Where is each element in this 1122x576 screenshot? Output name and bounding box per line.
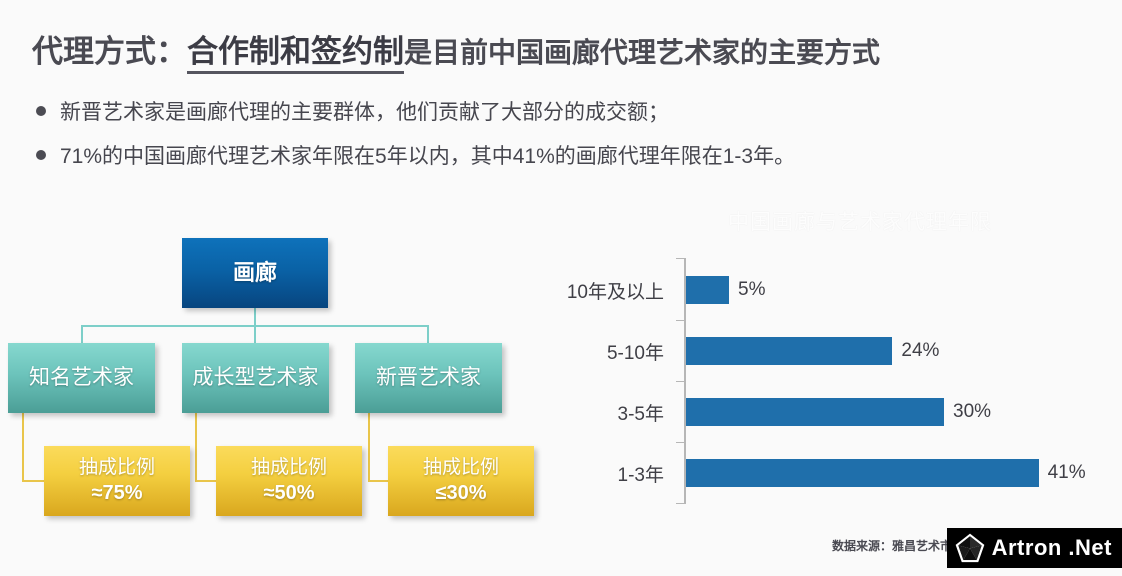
- connector-leaf-1-vertical: [22, 413, 24, 481]
- connector-branch-right: [427, 325, 429, 343]
- diagram-node-label: 新晋艺术家: [376, 366, 481, 391]
- chart-plot-area: 10年及以上 5% 5-10年 24% 3-5年 30% 1-3年 41%: [548, 228, 1122, 520]
- artron-diamond-icon: [955, 533, 985, 563]
- chart-bar[interactable]: [686, 337, 892, 365]
- bullet-dot-icon: [36, 106, 46, 116]
- page-title: 代理方式：合作制和签约制是目前中国画廊代理艺术家的主要方式: [32, 26, 1092, 71]
- diagram-node-famous-artist[interactable]: 知名艺术家: [8, 343, 155, 413]
- diagram-node-emerging-artist[interactable]: 新晋艺术家: [355, 343, 502, 413]
- artron-logo-text: Artron .Net: [992, 535, 1112, 561]
- chart-bar[interactable]: [686, 276, 729, 304]
- chart-category-label: 10年及以上: [548, 277, 674, 304]
- diagram-node-gallery[interactable]: 画廊: [182, 238, 328, 308]
- diagram-node-label: 知名艺术家: [29, 366, 134, 391]
- headline-rest: 是目前中国画廊代理艺术家的主要方式: [404, 37, 880, 68]
- commission-label: 抽成比例: [423, 457, 499, 479]
- bar-chart: 中国画廊与艺术家代理年限 10年及以上 5% 5-10年 24% 3-5年 30…: [548, 200, 1122, 530]
- commission-value: ≤30%: [435, 482, 486, 506]
- commission-label: 抽成比例: [79, 457, 155, 479]
- connector-leaf-1-horizontal: [22, 480, 46, 482]
- list-item: 71%的中国画廊代理艺术家年限在5年以内，其中41%的画廊代理年限在1-3年。: [36, 140, 1096, 170]
- axis-tick: [676, 258, 684, 259]
- chart-category-label: 5-10年: [548, 338, 674, 365]
- headline-prefix: 代理方式：: [32, 34, 187, 69]
- slide-root: 代理方式：合作制和签约制是目前中国画廊代理艺术家的主要方式 新晋艺术家是画廊代理…: [0, 0, 1122, 576]
- chart-bar[interactable]: [686, 398, 944, 426]
- chart-value-label: 24%: [901, 340, 939, 362]
- connector-branch-left: [81, 325, 83, 343]
- artron-logo[interactable]: Artron .Net: [947, 528, 1122, 568]
- headline-emphasis: 合作制和签约制: [187, 34, 404, 74]
- bullet-text: 71%的中国画廊代理艺术家年限在5年以内，其中41%的画廊代理年限在1-3年。: [60, 140, 795, 170]
- chart-category-label: 1-3年: [548, 460, 674, 487]
- connector-leaf-2-vertical: [195, 413, 197, 481]
- commission-value: ≈50%: [263, 482, 314, 506]
- chart-category-label: 3-5年: [548, 399, 674, 426]
- chart-bar-row[interactable]: 5-10年 24%: [548, 323, 1122, 379]
- connector-leaf-3-vertical: [368, 413, 370, 481]
- chart-bar[interactable]: [686, 459, 1039, 487]
- axis-tick: [676, 442, 684, 443]
- axis-tick: [676, 381, 684, 382]
- diagram-node-commission-1[interactable]: 抽成比例 ≈75%: [44, 446, 190, 516]
- chart-bar-row[interactable]: 10年及以上 5%: [548, 262, 1122, 318]
- chart-value-label: 5%: [738, 279, 765, 301]
- diagram-node-label: 成长型艺术家: [193, 366, 319, 391]
- diagram-node-commission-2[interactable]: 抽成比例 ≈50%: [216, 446, 362, 516]
- commission-value: ≈75%: [91, 482, 142, 506]
- diagram-node-commission-3[interactable]: 抽成比例 ≤30%: [388, 446, 534, 516]
- diagram-node-label: 画廊: [233, 260, 277, 286]
- chart-value-label: 41%: [1048, 462, 1086, 484]
- chart-bar-row[interactable]: 3-5年 30%: [548, 384, 1122, 440]
- bullet-list: 新晋艺术家是画廊代理的主要群体，他们贡献了大部分的成交额； 71%的中国画廊代理…: [36, 96, 1096, 184]
- bullet-text: 新晋艺术家是画廊代理的主要群体，他们贡献了大部分的成交额；: [60, 96, 669, 126]
- org-diagram: 画廊 知名艺术家 成长型艺术家 新晋艺术家 抽成比例 ≈75% 抽成比例 ≈50…: [0, 210, 560, 540]
- axis-tick: [676, 320, 684, 321]
- diagram-node-growing-artist[interactable]: 成长型艺术家: [182, 343, 329, 413]
- list-item: 新晋艺术家是画廊代理的主要群体，他们贡献了大部分的成交额；: [36, 96, 1096, 126]
- connector-branch-middle: [254, 325, 256, 343]
- bullet-dot-icon: [36, 150, 46, 160]
- chart-bar-row[interactable]: 1-3年 41%: [548, 445, 1122, 501]
- commission-label: 抽成比例: [251, 457, 327, 479]
- chart-value-label: 30%: [953, 401, 991, 423]
- axis-tick: [676, 503, 684, 504]
